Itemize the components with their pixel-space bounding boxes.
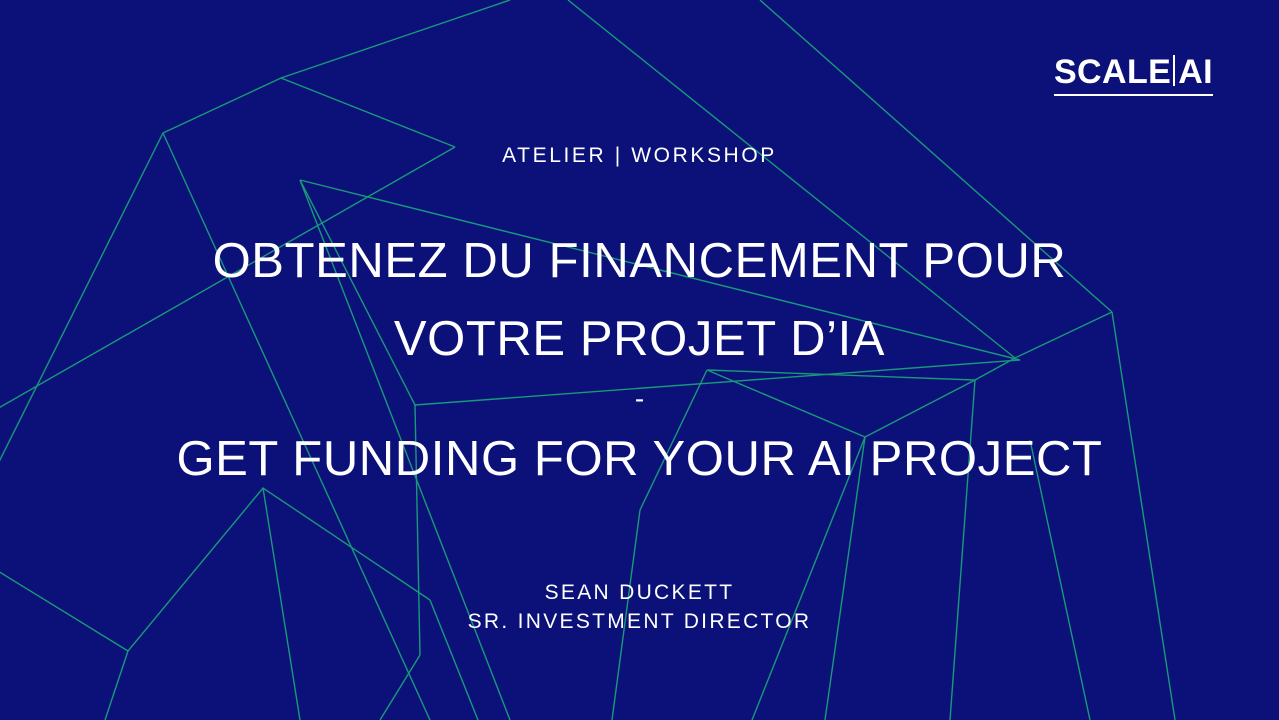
eyebrow-label: ATELIER | WORKSHOP: [502, 144, 777, 168]
slide-title: OBTENEZ DU FINANCEMENT POUR VOTRE PROJET…: [0, 222, 1279, 498]
presenter-role: SR. INVESTMENT DIRECTOR: [0, 607, 1279, 636]
presenter-name: SEAN DUCKETT: [0, 578, 1279, 607]
title-line-fr-2: VOTRE PROJET D’IA: [0, 300, 1279, 378]
title-separator: -: [0, 378, 1279, 420]
presenter-block: SEAN DUCKETT SR. INVESTMENT DIRECTOR: [0, 578, 1279, 636]
title-line-fr-1: OBTENEZ DU FINANCEMENT POUR: [0, 222, 1279, 300]
title-line-en-1: GET FUNDING FOR YOUR AI PROJECT: [0, 420, 1279, 498]
presentation-slide: SCALE AI ATELIER | WORKSHOP OBTENEZ DU F…: [0, 0, 1279, 720]
slide-content: ATELIER | WORKSHOP OBTENEZ DU FINANCEMEN…: [0, 0, 1279, 720]
